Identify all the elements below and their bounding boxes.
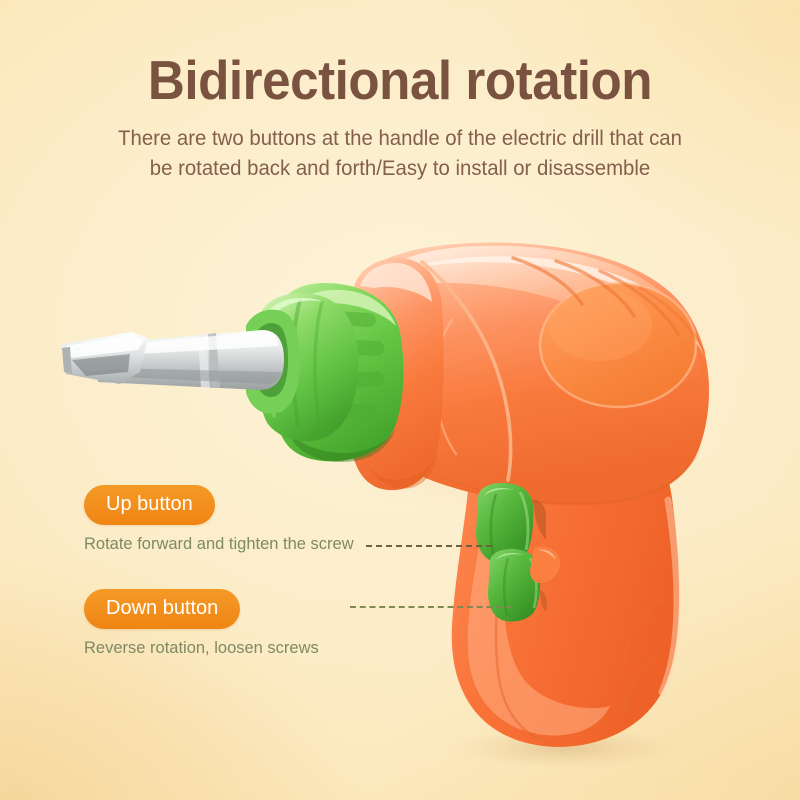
drill-body bbox=[351, 242, 709, 505]
header-block: Bidirectional rotation There are two but… bbox=[0, 50, 800, 184]
electric-drill-illustration bbox=[0, 0, 800, 800]
oval-side-panel bbox=[540, 283, 696, 407]
callout-up-button: Up button Rotate forward and tighten the… bbox=[84, 485, 354, 554]
description-down-button: Reverse rotation, loosen screws bbox=[84, 638, 319, 658]
badge-down-button: Down button bbox=[84, 589, 240, 629]
green-chuck-collar bbox=[278, 283, 403, 461]
page-subtitle: There are two buttons at the handle of t… bbox=[109, 124, 691, 184]
chuck-mouth bbox=[246, 310, 300, 414]
background-vignette bbox=[0, 0, 800, 800]
page-title: Bidirectional rotation bbox=[28, 50, 772, 110]
upper-green-trigger bbox=[476, 483, 533, 563]
callout-down-button: Down button Reverse rotation, loosen scr… bbox=[84, 589, 319, 658]
nose-collar bbox=[350, 258, 444, 490]
product-infographic: Bidirectional rotation There are two but… bbox=[0, 0, 800, 800]
bit-tip bbox=[62, 332, 148, 384]
leader-line-down-button bbox=[350, 606, 512, 608]
handle-grip bbox=[452, 428, 679, 747]
leader-line-up-button bbox=[366, 545, 492, 547]
orange-selector-tab bbox=[530, 547, 560, 583]
lower-green-trigger bbox=[488, 549, 540, 622]
description-up-button: Rotate forward and tighten the screw bbox=[84, 534, 354, 554]
screwdriver-bit bbox=[96, 330, 284, 390]
chuck-front-cone bbox=[256, 293, 358, 441]
badge-up-button: Up button bbox=[84, 485, 215, 525]
